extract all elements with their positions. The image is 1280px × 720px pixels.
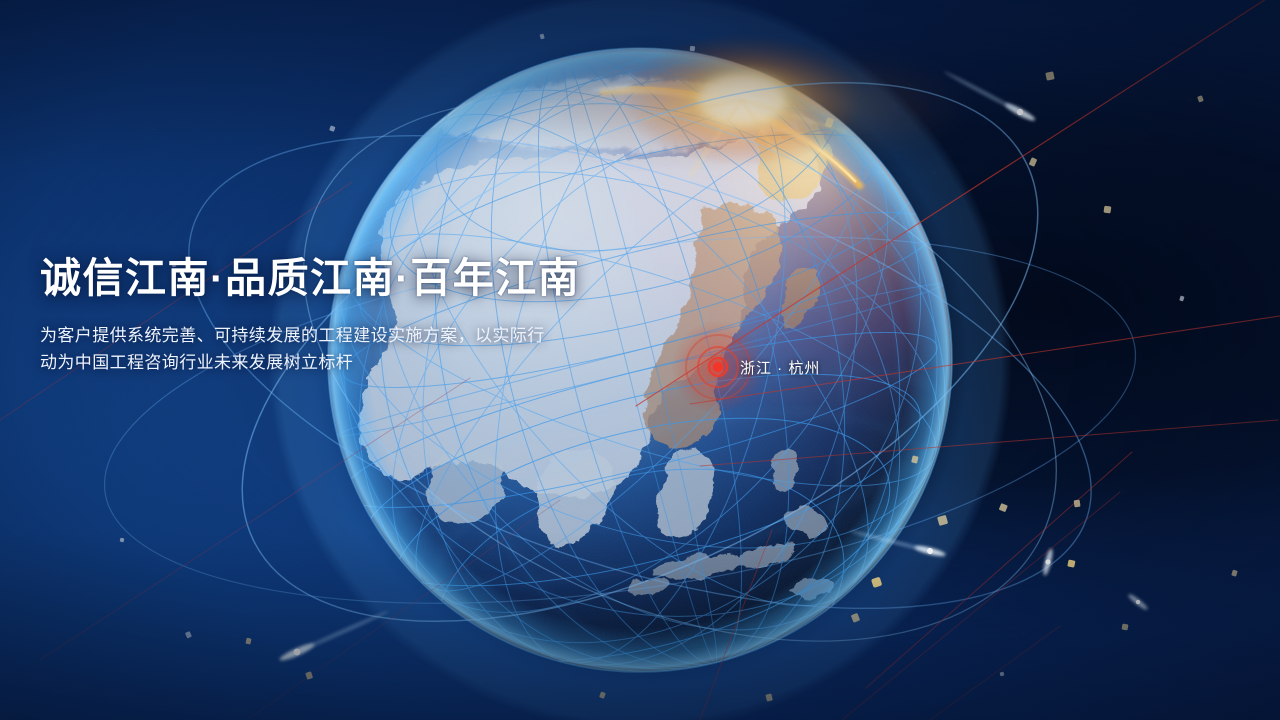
marker-label: 浙江 · 杭州	[740, 357, 820, 378]
hero-text-block: 诚信江南·品质江南·百年江南 为客户提供系统完善、可持续发展的工程建设实施方案，…	[40, 256, 680, 377]
subtitle-line-1: 为客户提供系统完善、可持续发展的工程建设实施方案，以实际行	[40, 322, 630, 350]
hero-banner: 浙江 · 杭州 诚信江南·品质江南·百年江南 为客户提供系统完善、可持续发展的工…	[0, 0, 1280, 720]
marker-dot	[713, 362, 723, 372]
subtitle-line-2: 动为中国工程咨询行业未来发展树立标杆	[40, 349, 630, 377]
page-title: 诚信江南·品质江南·百年江南	[40, 256, 680, 302]
page-subtitle: 为客户提供系统完善、可持续发展的工程建设实施方案，以实际行 动为中国工程咨询行业…	[40, 322, 630, 377]
